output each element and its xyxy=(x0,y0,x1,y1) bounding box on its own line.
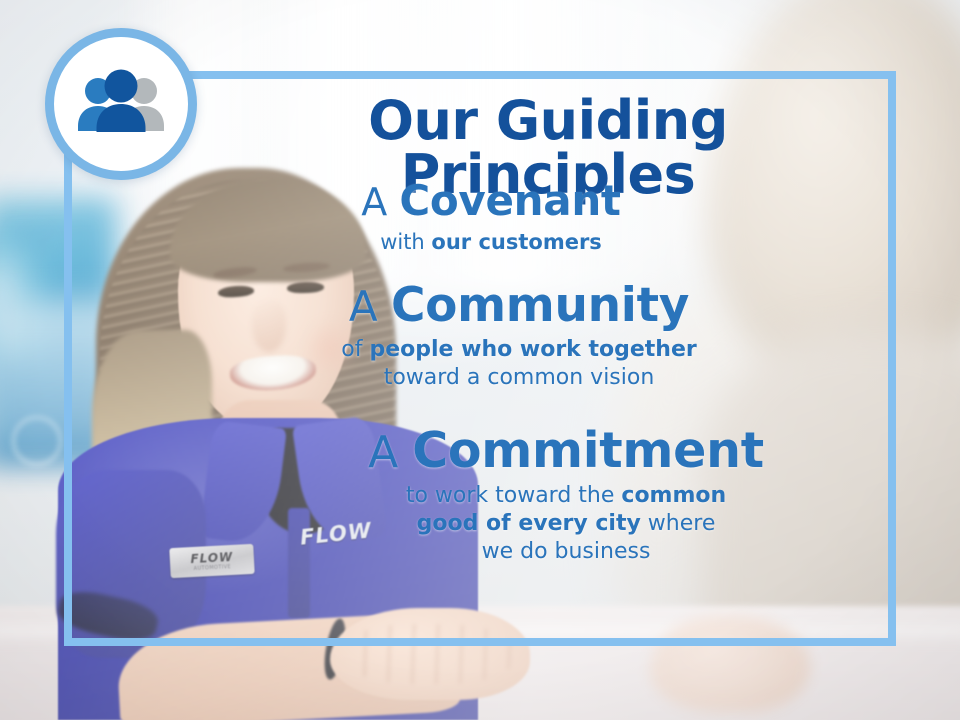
principle-description-line: we do business xyxy=(250,538,882,566)
blurred-person-hand xyxy=(650,616,810,712)
people-group-icon xyxy=(73,69,169,139)
woman-fingers xyxy=(344,624,514,684)
principle-3: A Commitmentto work toward the commongoo… xyxy=(100,426,882,566)
principle-description-line: good of every city where xyxy=(250,510,882,538)
principle-1: A Covenantwith our customers xyxy=(100,180,882,256)
principle-description-line: toward a common vision xyxy=(156,364,882,392)
plain-text: with xyxy=(380,230,431,254)
emphasis-text: common xyxy=(621,483,726,508)
principle-keyword: Covenant xyxy=(399,176,620,225)
emphasis-text: people who work together xyxy=(369,337,696,362)
plain-text: to work toward the xyxy=(406,483,622,508)
principle-description: of people who work togethertoward a comm… xyxy=(156,336,882,392)
principle-article: A xyxy=(368,427,412,478)
principle-heading: A Covenant xyxy=(100,180,882,223)
principle-description-line: of people who work together xyxy=(156,336,882,364)
people-badge xyxy=(45,28,197,180)
principle-description: to work toward the commongood of every c… xyxy=(250,482,882,566)
emphasis-text: good of every city xyxy=(417,511,641,536)
principle-keyword: Commitment xyxy=(412,422,764,479)
principle-article: A xyxy=(349,282,391,331)
principle-2: A Communityof people who work togetherto… xyxy=(100,282,882,392)
principle-article: A xyxy=(361,180,399,224)
guiding-principles-graphic: FLOW AUTOMOTIVE FLOW xyxy=(0,0,960,720)
plain-text: we do business xyxy=(482,539,651,564)
principles-list: A Covenantwith our customersA Communityo… xyxy=(100,180,882,572)
principle-heading: A Community xyxy=(156,282,882,330)
principle-keyword: Community xyxy=(391,278,689,333)
plain-text: of xyxy=(341,337,369,362)
plain-text: toward a common vision xyxy=(384,365,655,390)
principle-description: with our customers xyxy=(100,229,882,256)
principle-description-line: with our customers xyxy=(100,229,882,256)
principle-heading: A Commitment xyxy=(250,426,882,476)
principle-description-line: to work toward the common xyxy=(250,482,882,510)
plain-text: where xyxy=(641,511,716,536)
emphasis-text: our customers xyxy=(431,230,601,254)
